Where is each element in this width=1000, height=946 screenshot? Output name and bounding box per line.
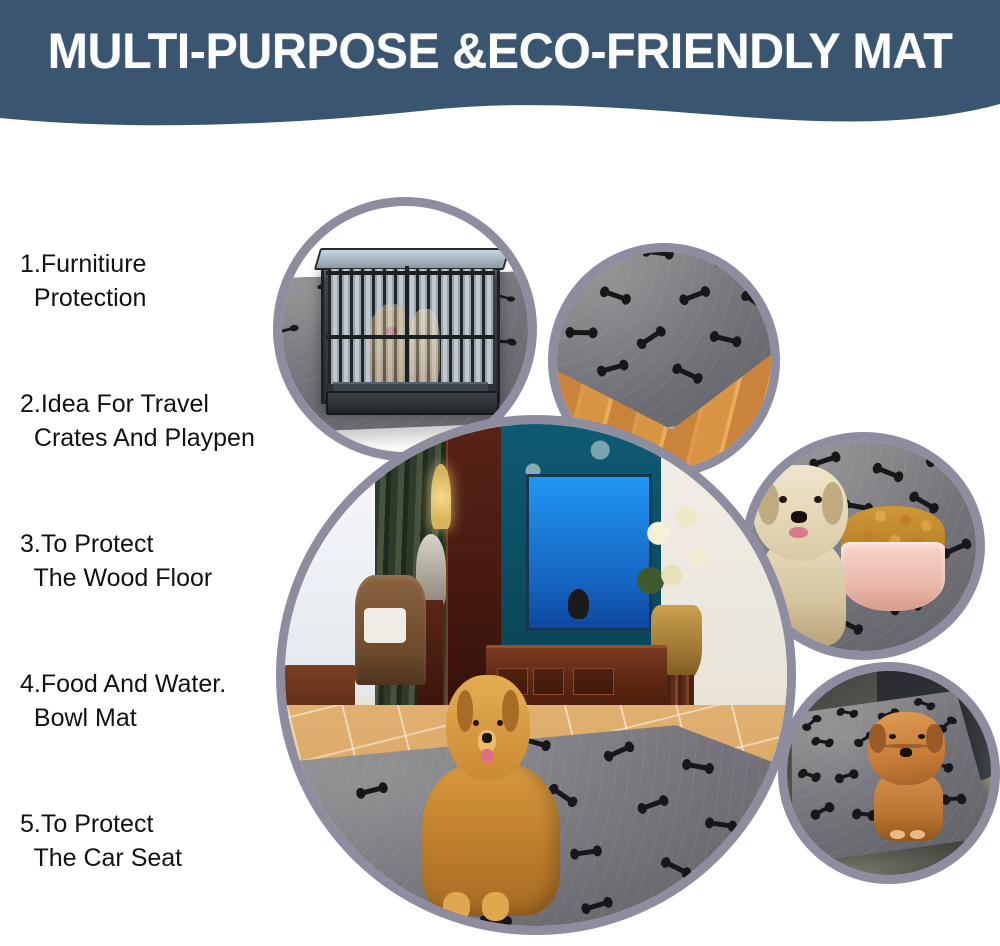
photo-bubble-living-room [276,415,796,935]
feature-item-1: 1.Furnitiure Protection [20,247,305,315]
crate-door-divider [405,266,409,387]
bone-icon [687,762,710,771]
bone-icon [350,904,372,918]
dog-eye [814,496,822,503]
bone-icon [717,254,740,264]
bone-icon [316,853,339,862]
dog-head [868,712,945,785]
bone-icon [877,466,899,479]
puppy [860,712,954,838]
scene-puppy-on-mat-in-car-seat [787,671,991,875]
header-banner: MULTI-PURPOSE &ECO-FRIENDLY MAT [0,0,1000,132]
bone-icon [571,330,593,335]
dog-paw [482,892,509,921]
dog-paw [910,830,925,840]
dog-ear [869,724,886,753]
dog-tongue [481,749,493,763]
bone-icon [684,290,706,303]
dog-ear [822,482,843,524]
bone-icon [805,718,817,728]
bone-icon [282,393,292,405]
bone-icon [282,327,294,335]
feature-item-2-line2: Crates And Playpen [20,424,255,452]
bone-icon [642,330,663,346]
feature-item-3-line2: The Wood Floor [20,564,212,592]
feature-item-2: 2.Idea For Travel Crates And Playpen [20,387,305,455]
dog-nose [482,733,492,743]
dog-eye [497,720,503,726]
bone-icon [931,457,953,464]
dog-paw [443,892,470,921]
crate-rail-mid [326,335,495,339]
bone-icon [285,793,293,808]
dog-eye [918,734,925,739]
bone-icon [602,363,625,374]
dog-ear [502,690,519,732]
dog-tongue [789,527,808,539]
dog-eye [473,720,479,726]
bone-icon [815,806,830,816]
crate-roof [314,248,510,270]
bone-icon [839,772,853,779]
bone-icon [665,860,687,874]
scene-dog-on-mat-in-living-room [285,424,787,926]
bone-icon [647,252,669,257]
bone-icon [361,785,384,795]
dog-eye [889,734,896,739]
bone-icon [677,366,699,380]
bone-icon [574,849,596,857]
bone-icon [918,701,931,708]
bone-icon [570,257,592,271]
bone-icon [642,799,664,811]
dog-nose [791,511,807,523]
chair-cushion [364,608,406,643]
tv-screen-object [568,589,590,619]
photo-bubble-car-seat [778,662,1000,884]
bone-icon [608,745,630,759]
crate-base [326,391,499,414]
golden-retriever-dog [416,675,567,916]
bone-icon [944,542,966,556]
crate-rail-top [326,271,495,275]
table-lamp [431,464,451,529]
feature-item-1-line1: 1.Furnitiure [20,250,146,278]
feature-item-2-line1: 2.Idea For Travel [20,390,209,418]
dog-paw [890,830,905,840]
bone-icon [709,820,731,828]
dog-ear [926,724,943,753]
bone-icon [803,772,817,779]
cabinet-door [573,668,615,695]
feature-item-4: 4.Food And Water. Bowl Mat [20,667,305,735]
scene-dog-crate-on-mat [282,206,528,452]
bone-icon [715,334,738,344]
feature-item-5: 5.To Protect The Car Seat [20,807,305,875]
infographic-page: MULTI-PURPOSE &ECO-FRIENDLY MAT 1.Furnit… [0,0,1000,946]
bone-icon [687,918,709,926]
page-title: MULTI-PURPOSE &ECO-FRIENDLY MAT [15,22,985,80]
feature-item-3: 3.To Protect The Wood Floor [20,527,305,595]
dog-crate [321,260,499,404]
bone-icon [816,740,830,745]
feature-item-3-line1: 3.To Protect [20,530,153,558]
dog-ear [457,690,474,732]
bone-icon [605,289,627,301]
feature-item-1-line2: Protection [20,284,146,312]
armchair [355,575,425,685]
bone-icon [841,710,854,715]
dog-head [446,675,530,781]
feature-item-5-line2: The Car Seat [20,844,182,872]
feature-item-4-line1: 4.Food And Water. [20,670,226,698]
dog-nose [900,748,912,756]
crate-bars-front [328,269,493,385]
bone-icon [586,901,609,912]
feature-item-5-line1: 5.To Protect [20,810,153,838]
television [526,474,652,631]
bone-icon [745,294,766,311]
feature-item-4-line2: Bowl Mat [20,704,137,732]
